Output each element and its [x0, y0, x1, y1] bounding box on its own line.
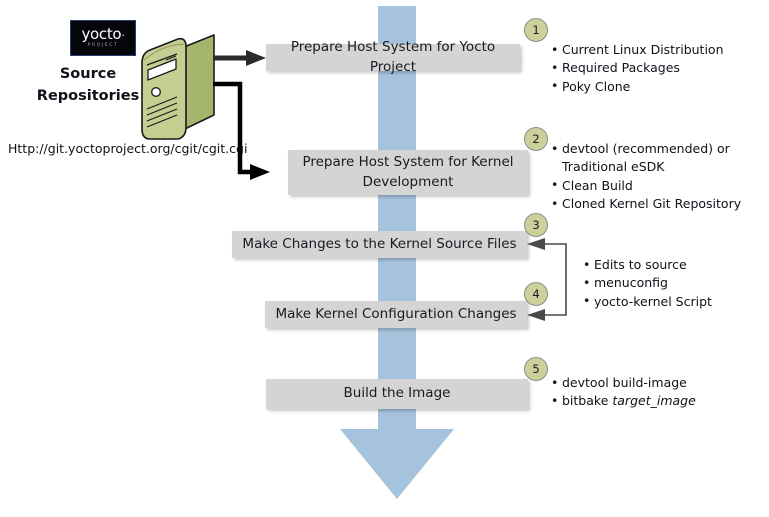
bullet-list-step-5: devtool build-image bitbake target_image [551, 374, 761, 411]
step-number-4: 4 [524, 282, 548, 306]
source-repositories-label: Source Repositories [28, 63, 148, 108]
bullet-item: Current Linux Distribution [551, 41, 766, 59]
bullet-item: Poky Clone [551, 78, 766, 96]
bullet-item: menuconfig [583, 274, 763, 292]
process-box-step-2[interactable]: Prepare Host System for Kernel Developme… [288, 150, 528, 195]
bullet-text: devtool build-image [562, 375, 687, 390]
server-tower-icon [136, 29, 220, 147]
yocto-logo-text: yocto [81, 25, 121, 43]
process-box-step-1[interactable]: Prepare Host System for Yocto Project [266, 44, 520, 71]
main-flow-arrow-head [340, 429, 454, 499]
bullet-item: yocto-kernel Script [583, 293, 763, 311]
bullet-item: Required Packages [551, 59, 766, 77]
bullet-item: Cloned Kernel Git Repository [551, 195, 763, 213]
bullet-list-step-1: Current Linux Distribution Required Pack… [551, 41, 766, 96]
bullet-item: devtool (recommended) or Traditional eSD… [551, 140, 763, 177]
step-number-2: 2 [524, 127, 548, 151]
step-number-5: 5 [524, 357, 548, 381]
bullet-item: bitbake target_image [551, 392, 761, 410]
diagram-canvas: yocto· PROJECT Source Repositories Http:… [0, 0, 769, 517]
process-box-step-5[interactable]: Build the Image [266, 379, 528, 409]
source-label-line-1: Source [28, 63, 148, 85]
yocto-logo-wordmark: yocto· [81, 27, 124, 42]
bullet-text: bitbake [562, 393, 612, 408]
yocto-project-logo: yocto· PROJECT [70, 20, 136, 56]
bracket-steps-3-4 [527, 238, 566, 321]
yocto-logo-subtext: PROJECT [88, 44, 119, 49]
bullet-list-steps-3-4: Edits to source menuconfig yocto-kernel … [583, 256, 763, 311]
step-number-3: 3 [524, 213, 548, 237]
yocto-logo-dot: · [121, 29, 124, 42]
bullet-item: Clean Build [551, 177, 763, 195]
bullet-list-step-2: devtool (recommended) or Traditional eSD… [551, 140, 763, 214]
process-box-step-4[interactable]: Make Kernel Configuration Changes [265, 301, 527, 328]
bullet-item: Edits to source [583, 256, 763, 274]
bullet-text-emphasis: target_image [612, 393, 695, 408]
arrow-server-to-step2 [213, 84, 270, 180]
process-box-step-3[interactable]: Make Changes to the Kernel Source Files [232, 231, 527, 258]
bullet-item: devtool build-image [551, 374, 761, 392]
source-label-line-2: Repositories [28, 85, 148, 107]
arrow-server-to-step1 [213, 50, 266, 66]
step-number-1: 1 [524, 18, 548, 42]
